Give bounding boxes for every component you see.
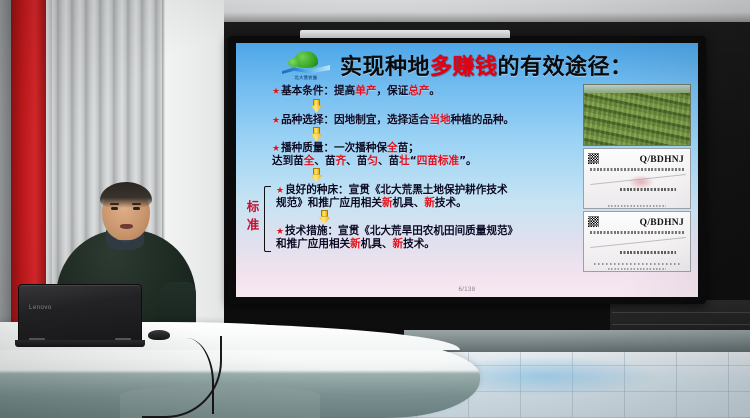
document-watermark — [590, 237, 686, 248]
bullet-3-t2: 苗； — [398, 142, 419, 154]
bullet-1-t3: 总产 — [408, 85, 429, 97]
cont-t10: ”。 — [459, 155, 477, 167]
standard-label-char-1: 标 — [244, 198, 262, 216]
beidahuang-logo: 北大荒农服 — [280, 51, 332, 85]
document-2-code: Q/BDHNJ — [640, 218, 684, 228]
arrow-stem — [321, 210, 328, 217]
slide-page-indicator: 6/138 — [236, 287, 698, 293]
laptop-base — [15, 340, 145, 347]
std2-l2-t3: 新 — [393, 238, 404, 250]
title-suffix: 的有效途径： — [498, 55, 633, 80]
presenter-eye-left — [111, 207, 118, 210]
standard-group-body: ★良好的种床：宣贯《北大荒黑土地保护耕作技术 规范》和推广应用相关新机具、新技术… — [272, 184, 562, 250]
star-bullet-icon: ★ — [272, 87, 280, 97]
bullet-2-t0: 品种选择：因地制宜，选择适合 — [281, 114, 429, 126]
title-prefix: 实现种地 — [340, 55, 430, 80]
star-bullet-icon: ★ — [276, 227, 284, 237]
standard-item-1-line-2: 规范》和推广应用相关新机具、新技术。 — [276, 197, 562, 210]
bullet-1-t2: ，保证 — [376, 85, 408, 97]
bullet-3-t1: 全 — [387, 142, 398, 154]
laptop-brand-label: Lenovo — [29, 305, 52, 311]
arrow-head — [310, 133, 323, 141]
laptop[interactable]: Lenovo — [18, 284, 142, 350]
std2-l2-t4: 技术。 — [403, 238, 435, 250]
standard-group: 标 准 ★良好的种床：宣贯《北大荒黑土地保护耕作技术 规范》和推广应用相关新机具… — [272, 184, 562, 250]
barcode-icon — [588, 153, 599, 164]
down-arrow-icon — [318, 210, 331, 224]
document-2-title — [620, 251, 676, 254]
standard-item-2-line-2: 和推广应用相关新机具、新技术。 — [276, 238, 562, 251]
crop-field-photo — [583, 84, 691, 146]
document-2-footer — [608, 268, 666, 270]
std2-l2-t1: 新 — [350, 238, 361, 250]
star-bullet-icon: ★ — [272, 116, 280, 126]
down-arrow-icon — [310, 99, 323, 113]
bullet-1-t4: 。 — [429, 85, 440, 97]
laptop-lid[interactable]: Lenovo — [18, 284, 142, 342]
title-highlight: 多赚钱 — [430, 55, 498, 80]
logo-caption: 北大荒农服 — [284, 75, 328, 81]
presentation-display[interactable]: 北大荒农服 实现种地多赚钱的有效途径： ★基本条件：提高单产，保证总产。 — [228, 36, 706, 304]
std1-l2-t3: 新 — [424, 197, 435, 209]
standard-group-label: 标 准 — [244, 198, 262, 234]
star-bullet-icon: ★ — [272, 144, 280, 154]
std2-l2-t0: 和推广应用相关 — [276, 238, 350, 250]
bullet-1-t0: 基本条件：提高 — [281, 85, 355, 97]
std1-l2-t0: 规范》和推广应用相关 — [276, 197, 382, 209]
std1-l1-t0: 良好的种床：宣贯《北大荒黑土地保护耕作技术 — [285, 184, 507, 196]
cont-t4: 、苗 — [346, 155, 367, 167]
cont-t1: 全 — [304, 155, 315, 167]
document-2-signature-line — [594, 263, 680, 265]
presenter-hair — [100, 182, 152, 208]
document-1-code: Q/BDHNJ — [640, 155, 684, 165]
std2-l1-t0: 技术措施：宣贯《北大荒旱田农机田间质量规范》 — [285, 225, 518, 237]
document-1-footer — [608, 205, 666, 207]
cont-t7: 壮 — [399, 155, 410, 167]
bullet-item-2: ★品种选择：因地制宜，选择适合当地种植的品种。 — [272, 114, 562, 127]
std1-l2-t4: 技术。 — [435, 197, 467, 209]
stage-edge — [404, 330, 750, 354]
bullet-1-t1: 单产 — [355, 85, 376, 97]
arrow-stem — [313, 127, 320, 134]
arrow-head — [310, 174, 323, 182]
cont-t0: 达到苗 — [272, 155, 304, 167]
cont-t5: 匀 — [367, 155, 378, 167]
leaf-icon — [294, 51, 318, 68]
wall-left-shadow — [0, 0, 11, 352]
standard-label-char-2: 准 — [244, 216, 262, 234]
document-2-subtitle — [590, 231, 684, 234]
arrow-head — [318, 216, 331, 224]
standard-item-1-line-1: ★良好的种床：宣贯《北大荒黑土地保护耕作技术 — [276, 184, 562, 197]
ceiling-strip — [224, 0, 750, 22]
presenter-eye-right — [133, 207, 140, 210]
arrow-stem — [313, 168, 320, 175]
down-arrow-icon — [310, 127, 323, 141]
down-arrow-icon — [310, 168, 323, 182]
bullet-item-1: ★基本条件：提高单产，保证总产。 — [272, 85, 562, 98]
lecture-studio-scene: 北大荒农服 实现种地多赚钱的有效途径： ★基本条件：提高单产，保证总产。 — [0, 0, 750, 418]
slide-body: ★基本条件：提高单产，保证总产。 ★品种选择：因地制宜，选择适合当地种植的品种。 — [272, 85, 562, 251]
bullet-3-continuation: 达到苗全、苗齐、苗匀、苗壮“四苗标准”。 — [272, 155, 562, 168]
presenter-mouth — [120, 224, 133, 229]
star-bullet-icon: ★ — [276, 186, 284, 196]
presenter-brow-left — [110, 203, 119, 205]
std1-l2-t1: 新 — [382, 197, 393, 209]
document-1-subtitle — [590, 168, 684, 171]
shelf-line — [612, 324, 750, 325]
standard-document-2: Q/BDHNJ — [583, 211, 691, 272]
bullet-2-t1: 当地 — [429, 114, 450, 126]
bullet-item-3: ★播种质量：一次播种保全苗； — [272, 142, 562, 155]
presenter-brow-right — [132, 203, 141, 205]
document-1-title — [620, 188, 676, 191]
display-screen[interactable]: 北大荒农服 实现种地多赚钱的有效途径： ★基本条件：提高单产，保证总产。 — [236, 43, 698, 297]
display-top-mount — [300, 30, 510, 38]
cont-t3: 齐 — [336, 155, 347, 167]
document-seal — [628, 175, 654, 189]
cont-t6: 、苗 — [378, 155, 399, 167]
curly-brace-icon — [264, 186, 271, 252]
arrow-head — [310, 105, 323, 113]
bullet-3-t0: 播种质量：一次播种保 — [281, 142, 387, 154]
barcode-icon — [588, 216, 599, 227]
photo-horizon — [584, 85, 690, 93]
standard-item-2-line-1: ★技术措施：宣贯《北大荒旱田农机田间质量规范》 — [276, 225, 562, 238]
bullet-2-t2: 种植的品种。 — [451, 114, 515, 126]
slide-title: 实现种地多赚钱的有效途径： — [340, 49, 690, 81]
cont-t2: 、苗 — [314, 155, 335, 167]
cont-t9: 四苗标准 — [417, 155, 459, 167]
shelf-line — [612, 312, 750, 313]
std2-l2-t2: 机具、 — [361, 238, 393, 250]
std1-l2-t2: 机具、 — [393, 197, 425, 209]
standard-document-1: Q/BDHNJ — [583, 148, 691, 209]
slide-image-column: Q/BDHNJ Q/BDHNJ — [583, 84, 691, 272]
cont-t8: “ — [410, 155, 417, 167]
powerpoint-slide[interactable]: 北大荒农服 实现种地多赚钱的有效途径： ★基本条件：提高单产，保证总产。 — [236, 43, 698, 297]
arrow-stem — [313, 99, 320, 106]
